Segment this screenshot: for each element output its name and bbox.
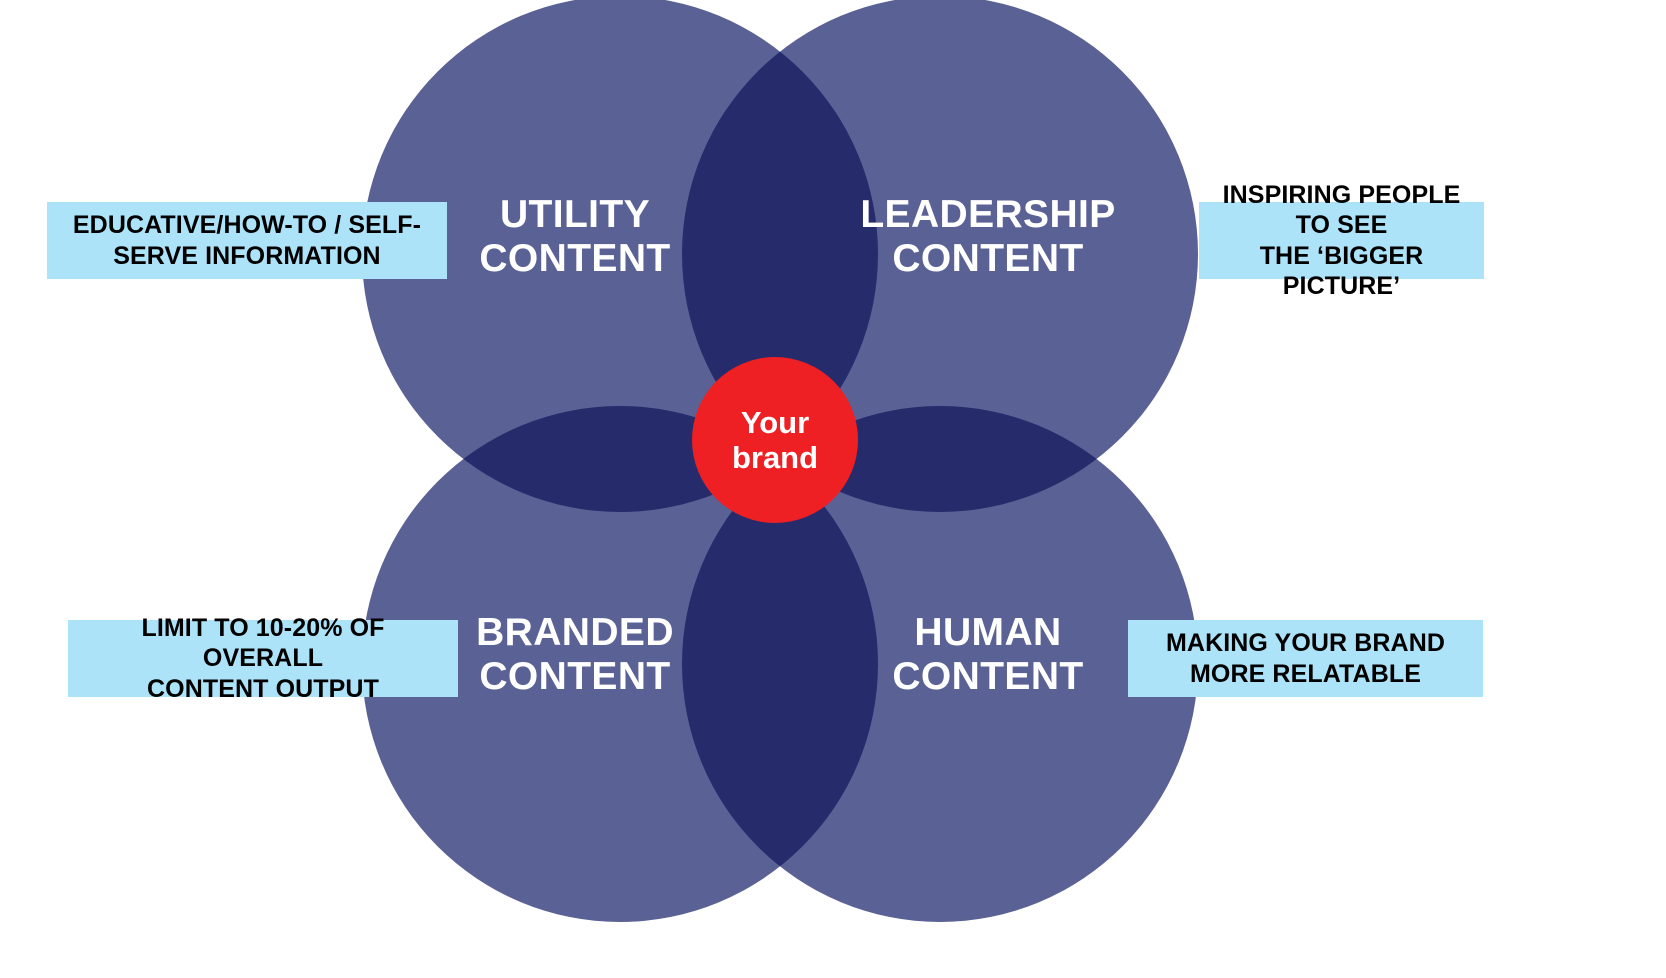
circle-label-human: HUMAN CONTENT (808, 611, 1168, 698)
callout-leadership: INSPIRING PEOPLE TO SEE THE ‘BIGGER PICT… (1199, 202, 1484, 279)
callout-human: MAKING YOUR BRAND MORE RELATABLE (1128, 620, 1483, 697)
callout-utility: EDUCATIVE/HOW-TO / SELF- SERVE INFORMATI… (47, 202, 447, 279)
diagram-canvas: UTILITY CONTENT LEADERSHIP CONTENT BRAND… (0, 0, 1666, 978)
center-brand-label: Your brand (732, 405, 818, 476)
circle-label-utility: UTILITY CONTENT (395, 193, 755, 280)
circle-label-leadership: LEADERSHIP CONTENT (808, 193, 1168, 280)
center-brand-badge: Your brand (692, 357, 858, 523)
callout-branded: LIMIT TO 10-20% OF OVERALL CONTENT OUTPU… (68, 620, 458, 697)
